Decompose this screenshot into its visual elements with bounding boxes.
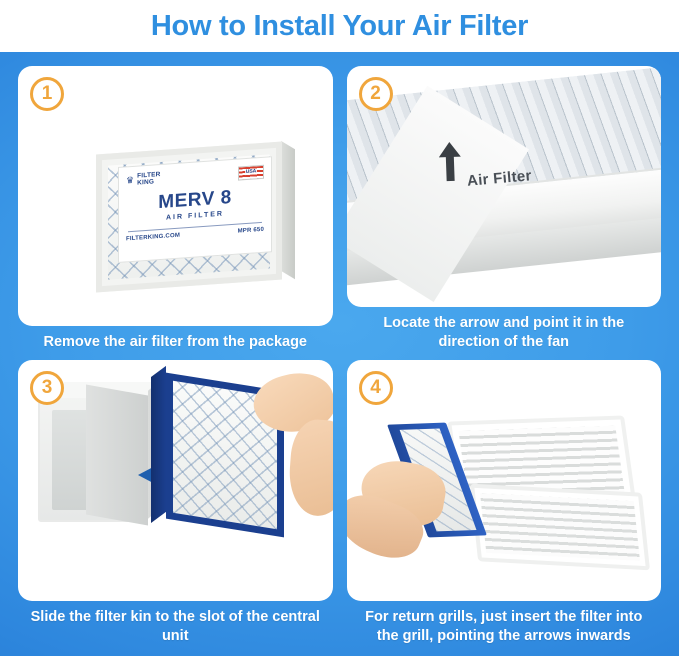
step-4-artwork: [347, 360, 662, 601]
step-1: 1 ♛ FILTER: [18, 66, 333, 352]
step-2-badge: 2: [359, 77, 393, 111]
step-2-artwork: Air Filter: [347, 66, 662, 307]
page-title: How to Install Your Air Filter: [151, 12, 528, 41]
step-1-badge: 1: [30, 77, 64, 111]
grill-louvers-lower: [480, 493, 640, 561]
label-brand-row: ♛ FILTER KING USA: [126, 163, 264, 190]
infographic-root: How to Install Your Air Filter 1: [0, 0, 679, 656]
title-bar: How to Install Your Air Filter: [0, 0, 679, 52]
step-2: 2 Air Filter Locate the arrow and poi: [347, 66, 662, 352]
brand-name: FILTER KING: [137, 172, 160, 187]
step-2-card: 2 Air Filter: [347, 66, 662, 307]
step-3: 3: [18, 360, 333, 646]
filter-side-edge: [151, 366, 166, 523]
crown-icon: ♛: [126, 176, 134, 186]
label-rating: MPR 650: [238, 227, 264, 235]
usa-flag-text: USA: [245, 169, 258, 175]
step-4-caption: For return grills, just insert the filte…: [347, 601, 662, 646]
step-1-card: 1 ♛ FILTER: [18, 66, 333, 326]
steps-grid: 1 ♛ FILTER: [0, 52, 679, 656]
step-4: 4 For return grills, just insert the fil…: [347, 360, 662, 646]
brand-line-2: KING: [137, 178, 160, 186]
filter-shadow-panel: [86, 385, 148, 526]
step-4-card: 4: [347, 360, 662, 601]
step-2-caption: Locate the arrow and point it in the dir…: [347, 307, 662, 352]
step-1-caption: Remove the air filter from the package: [18, 326, 333, 352]
filter-product-label: ♛ FILTER KING USA: [118, 156, 272, 263]
filter-front-face: ♛ FILTER KING USA: [96, 141, 282, 292]
step-4-badge: 4: [359, 371, 393, 405]
filter-box-side: [281, 141, 295, 279]
step-3-badge: 3: [30, 371, 64, 405]
airflow-arrow-icon: [438, 142, 461, 183]
brand-block: ♛ FILTER KING: [126, 172, 161, 188]
packaged-filter-graphic: ♛ FILTER KING USA: [96, 141, 282, 292]
return-grill-lower: [469, 484, 649, 571]
hand-lower: [287, 418, 333, 518]
arrow-shaft: [445, 155, 454, 181]
label-website: FILTERKING.COM: [126, 233, 180, 243]
step-3-card: 3: [18, 360, 333, 601]
step-3-artwork: [18, 360, 333, 601]
step-1-artwork: ♛ FILTER KING USA: [18, 66, 333, 326]
step-3-caption: Slide the filter kin to the slot of the …: [18, 601, 333, 646]
usa-flag-icon: USA: [238, 164, 264, 180]
